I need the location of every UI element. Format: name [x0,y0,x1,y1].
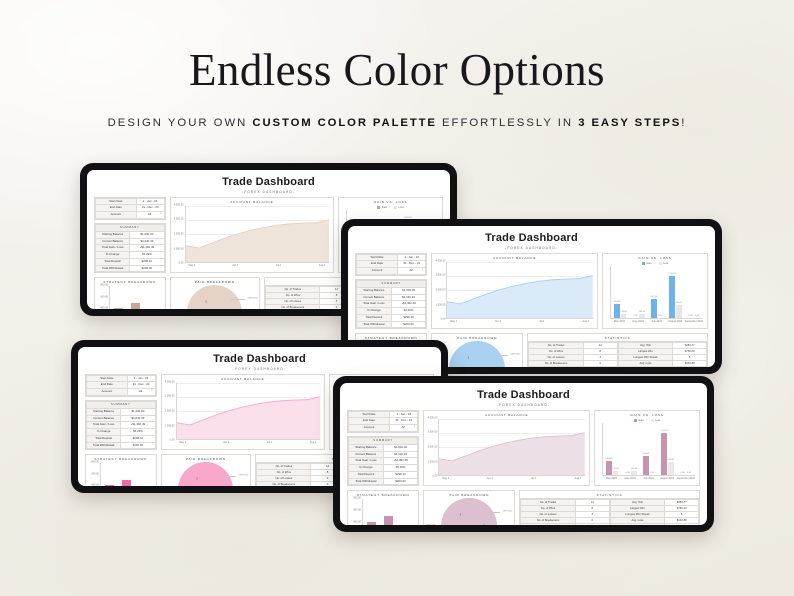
bar-value-label: 430.00 [606,458,612,460]
summary-table: SUMMARYStarting Balance$1,000.00Current … [95,224,165,272]
pie-callout-0: GBP/USD [248,297,258,300]
table-row: No. of Breakevens0 [257,482,344,486]
account-balance-area [446,262,593,320]
bar-gain: 1,292.00 [661,433,667,475]
summary-value: +$1,492.49 [391,301,426,308]
table-row: Total Gain / Loss+$1,492.49 [357,301,426,308]
bar-loss: 133.00 [621,314,627,318]
account-balance-card: ACCOUNT BALANCE4,000.003,000.002,000.001… [423,410,590,487]
summary-value: $3,040.49 [121,415,155,422]
bar-value-label: 430.00 [614,301,620,303]
table-row: Total Gain / Loss+$1,492.49 [96,245,165,252]
y-tick: 800.00 [91,461,99,464]
account-balance-title: ACCOUNT BALANCE [162,375,325,382]
y-tick: 1,000.00 [165,424,175,427]
table-row: Current Balance$3,040.49 [349,451,418,458]
summary-header: SUMMARY [357,280,426,287]
table-row: % Change66.29% [349,465,418,472]
subtitle-part-2: EFFORTLESSLY IN [437,117,578,129]
summary-value: $298.16 [383,471,418,478]
y-tick: 4,000.00 [174,203,184,206]
x-tick: Aug 1 [319,264,326,267]
summary-label: Starting Balance [87,408,121,415]
parameters-card: Start Date1 - Jan - 24End Date31 - Dec -… [85,374,157,397]
account-balance-x-axis: May 1Jun 1Jul 1Aug 1 [438,476,585,483]
strategy-y-axis: 800.00600.00400.00200.000.00 [89,462,100,486]
summary-header-label: SUMMARY [349,437,418,444]
table-row: Total Gain / Loss+$1,492.49 [87,422,156,429]
bar-strategy-2 [131,303,140,309]
summary-label: Starting Balance [96,231,130,238]
parameter-label: Start Date [87,375,128,382]
summary-label: Total Gain / Loss [96,245,130,252]
y-tick: 3,000.00 [428,431,438,434]
x-tick: Jul 1 [276,264,281,267]
parameter-value[interactable]: All▾ [398,268,426,275]
gain-vs-loss-area: 430.00133.000.00135.00595.000.001,292.00… [610,266,703,320]
parameter-label: Account [349,425,390,432]
y-tick: 0.00 [170,439,175,442]
summary-header: SUMMARY [349,437,418,444]
bar-value-label: 133.00 [612,468,618,470]
bar-group: 430.00133.00 [605,423,619,476]
statistics-left-table: No. of Trades14No. of Wins8No. of Losses… [256,463,344,486]
parameters-and-summary: Start Date1 - Jan - 24End Date31 - Dec -… [85,374,157,451]
bar-value-label: 0.00 [633,315,637,317]
subtitle-part-1: CUSTOM COLOR PALETTE [252,117,436,129]
account-balance-y-axis: 4,000.003,000.002,000.001,000.000.00 [174,205,185,264]
parameters-card: Start Date1 - Jan - 24End Date31 - Dec -… [347,410,419,433]
parameter-value[interactable]: 1 - Jan - 24 [127,375,155,382]
table-row: % Change66.29% [96,252,165,259]
x-tick: August 2024 [668,320,682,323]
summary-value: +$1,492.49 [130,245,164,252]
parameter-value[interactable]: 1 - Jan - 24 [136,198,164,205]
y-tick: 4,000.00 [165,380,175,383]
table-row[interactable]: Start Date1 - Jan - 24 [357,254,426,261]
summary-value: $200.00 [391,321,426,328]
parameters-and-summary: Start Date1 - Jan - 24End Date31 - Dec -… [347,410,419,487]
statistics-title: STATISTICS [528,334,707,342]
parameter-label: End Date [96,205,137,212]
x-tick: May 1 [188,264,195,267]
x-tick: September 2024 [684,320,703,323]
y-tick: 2,000.00 [428,446,438,449]
strategy-breakdown-plot: 800.00600.00400.00200.000.00Strategy 1St… [351,498,415,525]
strategy-breakdown-card: STRATEGY BREAKDOWN800.00600.00400.00200.… [85,454,157,486]
summary-label: Total Withdrawal [349,478,384,485]
bar-value-label: 0.00 [689,315,693,317]
pair-breakdown-plot: 743GBP/USDNAS/USDEUR/USD [424,498,514,525]
dashboard-subtitle: -FOREX DASHBOARD- [85,367,434,371]
table-row: Total Deposit$298.16 [87,435,156,442]
account-balance-x-axis: May 1Jun 1Jul 1Aug 1 [446,319,593,326]
table-row: Total Deposit$298.16 [357,314,426,321]
parameters-table: Start Date1 - Jan - 24End Date31 - Dec -… [348,411,418,432]
y-tick: 2,000.00 [436,289,446,292]
x-tick: Jun 1 [232,264,238,267]
summary-label: Current Balance [349,451,384,458]
table-row: Starting Balance$1,000.00 [96,231,165,238]
stat-label: No. Open [521,524,576,525]
summary-value: $3,040.49 [383,451,418,458]
parameter-value[interactable]: All▾ [390,425,418,432]
stat-label: No. of Breakevens [266,305,320,309]
bar-loss: 400.00 [676,305,682,318]
x-tick: Aug 1 [574,477,581,480]
x-tick: June 2024 [632,320,644,323]
summary-header-label: SUMMARY [96,224,165,231]
summary-label: Starting Balance [357,287,392,294]
statistics-left-table: No. of Trades14No. of Wins8No. of Losses… [520,499,609,525]
chevron-down-icon[interactable]: ▾ [414,426,415,429]
account-balance-y-axis: 4,000.003,000.002,000.001,000.000.00 [165,382,176,441]
bar-value-label: 0.00 [681,472,685,474]
y-tick: 4,000.00 [428,416,438,419]
summary-value: $3,040.49 [391,294,426,301]
summary-label: Total Deposit [87,435,121,442]
dashboard-screen: Trade Dashboard-FOREX DASHBOARD-Start Da… [340,383,707,525]
parameter-value[interactable]: 31 - Dec - 24 [136,205,164,212]
parameter-label: End Date [87,382,128,389]
account-balance-plot: 4,000.003,000.002,000.001,000.000.00May … [435,261,594,327]
dashboard-row-bottom: STRATEGY BREAKDOWN800.00600.00400.00200.… [347,490,700,525]
bar-value-label: 1,292.00 [660,430,668,432]
gain-vs-loss-bars: 430.00133.000.00135.00595.000.001,292.00… [603,423,695,476]
account-balance-area-svg [447,262,593,319]
summary-label: Current Balance [96,238,130,245]
x-tick: June 2024 [624,477,636,480]
pie-slice-value-2: 3 [467,356,468,359]
summary-label: Total Withdrawal [87,442,121,449]
x-tick: Aug 1 [310,441,317,444]
summary-value: 66.29% [383,465,418,472]
table-row: Total Deposit$298.16 [96,258,165,265]
gain-vs-loss-plot: 430.00133.000.00135.00595.000.001,292.00… [606,265,704,327]
strategy-area [362,499,414,525]
dashboard-row-top: Start Date1 - Jan - 24End Date31 - Dec -… [355,253,708,330]
table-row: Total Withdrawal$200.00 [357,321,426,328]
dashboard-subtitle: -FOREX DASHBOARD- [94,190,443,194]
summary-label: Total Gain / Loss [357,301,392,308]
account-balance-x-axis: May 1Jun 1Jul 1Aug 1 [176,440,321,447]
subtitle-part-4: ! [681,117,686,129]
strategy-area [109,286,161,309]
summary-value: $200.00 [121,442,155,449]
table-row[interactable]: AccountAll▾ [357,268,426,275]
account-balance-card: ACCOUNT BALANCE4,000.003,000.002,000.001… [161,374,326,451]
bar-strategy-2 [384,516,393,525]
parameter-label: Start Date [349,411,390,418]
account-balance-y-axis: 4,000.003,000.002,000.001,000.000.00 [427,418,438,477]
y-tick: 600.00 [353,509,361,512]
x-tick: May 1 [179,441,186,444]
summary-header: SUMMARY [96,224,165,231]
summary-label: % Change [349,465,384,472]
stat-label: Largest Loss [610,524,665,525]
pair-breakdown-title: PAIR BREAKDOWN [424,491,514,498]
bar-gain: 595.00 [651,299,657,318]
y-tick: 2,000.00 [165,410,175,413]
bar-group: 1,292.00400.00 [661,423,675,476]
account-balance-x-axis: May 1Jun 1Jul 1Aug 1 [185,263,330,270]
subtitle-part-0: DESIGN YOUR OWN [108,117,253,129]
bar-value-label: 135.00 [639,311,645,313]
pair-breakdown-pie: 743 [178,462,233,486]
strategy-breakdown-plot: 800.00600.00400.00200.000.00Strategy 1St… [89,462,153,486]
strategy-breakdown-card: STRATEGY BREAKDOWN800.00600.00400.00200.… [94,277,166,309]
account-balance-area [438,419,585,477]
gain-vs-loss-x-axis: May 2024June 2024July 2024August 2024Sep… [602,476,695,483]
summary-label: Total Deposit [349,471,384,478]
table-row: % Change66.29% [87,429,156,436]
summary-label: Total Gain / Loss [349,458,384,465]
bar-loss: 400.00 [668,462,674,475]
parameter-value[interactable]: All▾ [136,212,164,219]
chevron-down-icon[interactable]: ▾ [160,213,161,216]
parameter-value[interactable]: All▾ [127,389,155,396]
table-row[interactable]: Start Date1 - Jan - 24 [96,198,165,205]
statistics-card: STATISTICSNo. of Trades14No. of Wins8No.… [519,490,700,525]
strategy-breakdown-plot: 800.00600.00400.00200.000.00Strategy 1St… [98,285,162,309]
gain-vs-loss-plot: 430.00133.000.00135.00595.000.001,292.00… [598,422,696,484]
stat-value: $275.00 [665,524,699,525]
x-tick: Jul 1 [531,477,536,480]
pair-breakdown-card: PAIR BREAKDOWN743GBP/USDNAS/USDEUR/USD [170,277,261,309]
account-balance-y-axis: 4,000.003,000.002,000.001,000.000.00 [435,261,446,320]
chevron-down-icon[interactable]: ▾ [422,269,423,272]
account-balance-area [176,383,321,441]
bar-gain: 430.00 [606,461,612,475]
parameter-value[interactable]: 31 - Dec - 24 [127,382,155,389]
summary-header-label: SUMMARY [357,280,426,287]
bar-gain: 430.00 [614,304,620,318]
dashboard: Trade Dashboard-FOREX DASHBOARD-Start Da… [347,388,700,519]
parameters-card: Start Date1 - Jan - 24End Date31 - Dec -… [355,253,427,276]
bar-gain: 1,292.00 [669,276,675,318]
parameter-value[interactable]: 31 - Dec - 24 [398,261,426,268]
y-tick: 2,000.00 [174,233,184,236]
dashboard-title: Trade Dashboard [85,353,434,365]
table-row[interactable]: AccountAll▾ [349,425,418,432]
statistics-left-table: No. of Trades14No. of Wins8No. of Losses… [528,342,617,367]
statistics-right-table: Avg. Win$284.77Largest Win$750.00Longest… [618,342,707,367]
table-row[interactable]: Start Date1 - Jan - 24 [349,411,418,418]
strategy-breakdown-card: STRATEGY BREAKDOWN800.00600.00400.00200.… [347,490,419,525]
table-row[interactable]: End Date31 - Dec - 24 [357,261,426,268]
table-row: No. Open0 [521,524,609,525]
summary-value: $1,000.00 [121,408,155,415]
bar-group: 0.00135.00 [624,423,638,476]
table-row[interactable]: AccountAll▾ [96,212,165,219]
y-tick: 400.00 [100,307,108,309]
summary-label: % Change [87,429,121,436]
table-row: Starting Balance$1,000.00 [87,408,156,415]
summary-value: +$1,492.49 [121,422,155,429]
x-tick: May 1 [442,477,449,480]
summary-table: SUMMARYStarting Balance$1,000.00Current … [348,437,418,485]
table-row: Current Balance$3,040.49 [87,415,156,422]
summary-value: 66.29% [391,308,426,315]
page-title: Endless Color Options [0,48,794,93]
table-row: Total Deposit$298.16 [349,471,418,478]
stat-value: 0 [575,524,609,525]
gain-vs-loss-card: GAIN VS. LOSSGainLoss430.00133.000.00135… [602,253,708,330]
pair-breakdown-plot: 743GBP/USDNAS/USDEUR/USD [162,462,251,486]
subtitle-part-3: 3 EASY STEPS [578,117,681,129]
table-row[interactable]: Start Date1 - Jan - 24 [87,375,156,382]
summary-table: SUMMARYStarting Balance$1,000.00Current … [86,401,156,449]
bar-group: 1,292.00400.00 [669,266,683,319]
summary-label: Total Withdrawal [96,265,130,272]
x-tick: Jul 1 [539,320,544,323]
x-tick: July 2024 [651,320,662,323]
pair-breakdown-card: PAIR BREAKDOWN743GBP/USDNAS/USDEUR/USD [423,490,515,525]
y-tick: 600.00 [100,295,108,298]
parameter-label: Start Date [96,198,137,205]
pie-callout-0: GBP/USD [510,353,520,356]
pie-callout-0: GBP/USD [239,474,249,477]
account-balance-title: ACCOUNT BALANCE [432,254,597,261]
summary-label: Current Balance [357,294,392,301]
table-row[interactable]: End Date31 - Dec - 24 [87,382,156,389]
dashboard-subtitle: -FOREX DASHBOARD- [355,246,708,250]
x-tick: Aug 1 [582,320,589,323]
summary-table: SUMMARYStarting Balance$1,000.00Current … [356,280,426,328]
statistics-body: No. of Trades14No. of Wins8No. of Losses… [520,499,699,525]
bar-value-label: 0.00 [625,472,629,474]
parameter-label: Account [87,389,128,396]
strategy-bars [363,499,414,525]
summary-label: Current Balance [87,415,121,422]
strategy-y-axis: 800.00600.00400.00200.000.00 [98,285,109,309]
parameter-label: End Date [349,418,390,425]
summary-card: SUMMARYStarting Balance$1,000.00Current … [347,436,419,486]
pie-slice-value-2: 3 [205,300,206,303]
x-tick: May 2024 [614,320,625,323]
bar-strategy-1 [105,485,114,486]
parameters-and-summary: Start Date1 - Jan - 24End Date31 - Dec -… [94,197,166,274]
summary-value: $3,040.49 [130,238,164,245]
bar-value-label: 0.00 [687,472,691,474]
bar-gain: 595.00 [643,456,649,475]
bar-value-label: 1,292.00 [668,273,676,275]
y-tick: 800.00 [353,497,361,500]
y-tick: 0.00 [440,318,445,321]
parameter-value[interactable]: 31 - Dec - 24 [390,418,418,425]
table-row: Current Balance$3,040.49 [96,238,165,245]
table-row: Total Withdrawal$200.00 [96,265,165,272]
y-tick: 3,000.00 [174,218,184,221]
bar-strategy-1 [114,308,123,309]
summary-value: $298.16 [130,258,164,265]
parameter-value[interactable]: 1 - Jan - 24 [390,411,418,418]
bar-group: 595.000.00 [642,423,656,476]
chevron-down-icon[interactable]: ▾ [151,390,152,393]
parameters-table: Start Date1 - Jan - 24End Date31 - Dec -… [95,198,165,219]
y-tick: 400.00 [91,484,99,486]
bar-group: 0.00135.00 [632,266,646,319]
summary-value: 66.29% [121,429,155,436]
pie-slice-value-2: 3 [459,513,460,516]
summary-value: 66.29% [130,252,164,259]
y-tick: 600.00 [91,472,99,475]
page-subtitle: DESIGN YOUR OWN CUSTOM COLOR PALETTE EFF… [0,117,794,129]
table-row: Current Balance$3,040.49 [357,294,426,301]
account-balance-plot: 4,000.003,000.002,000.001,000.000.00May … [427,418,586,484]
dashboard-subtitle: -FOREX DASHBOARD- [347,403,700,407]
parameters-table: Start Date1 - Jan - 24End Date31 - Dec -… [356,254,426,275]
statistics-card: STATISTICSNo. of Trades14No. of Wins8No.… [527,333,708,367]
y-tick: 800.00 [100,284,108,287]
bar-value-label: 0.00 [658,315,662,317]
parameters-and-summary: Start Date1 - Jan - 24End Date31 - Dec -… [355,253,427,330]
dashboard-title: Trade Dashboard [347,389,700,401]
x-tick: Jul 1 [267,441,272,444]
stat-label: No. of Breakevens [257,482,311,486]
parameter-value[interactable]: 1 - Jan - 24 [398,254,426,261]
dashboard-title: Trade Dashboard [355,232,708,244]
pair-breakdown-plot: 743GBP/USDNAS/USDEUR/USD [171,285,260,309]
bar-group: 595.000.00 [650,266,664,319]
summary-label: Total Deposit [357,314,392,321]
pair-breakdown-title: PAIR BREAKDOWN [432,334,522,341]
y-tick: 1,000.00 [174,247,184,250]
summary-value: $200.00 [383,478,418,485]
bar-value-label: 0.00 [650,472,654,474]
account-balance-card: ACCOUNT BALANCE4,000.003,000.002,000.001… [170,197,335,274]
x-tick: Jun 1 [487,477,493,480]
strategy-bars [110,286,161,309]
summary-label: Total Withdrawal [357,321,392,328]
pie-slice-value-2: 3 [196,477,197,480]
bar-value-label: 400.00 [675,302,681,304]
summary-value: +$1,492.49 [383,458,418,465]
y-tick: 1,000.00 [436,303,446,306]
summary-label: Total Deposit [96,258,130,265]
table-row: Starting Balance$1,000.00 [357,287,426,294]
table-row[interactable]: End Date31 - Dec - 24 [96,205,165,212]
pair-breakdown-card: PAIR BREAKDOWN743GBP/USDNAS/USDEUR/USD [161,454,252,486]
summary-value: $1,000.00 [383,444,418,451]
dashboard-row-top: Start Date1 - Jan - 24End Date31 - Dec -… [347,410,700,487]
parameter-label: Account [96,212,137,219]
statistics-right-table: Avg. Win$284.77Largest Win$750.00Longest… [610,499,699,525]
table-row: Total Gain / Loss+$1,492.49 [349,458,418,465]
x-tick: Jun 1 [223,441,229,444]
summary-label: % Change [357,308,392,315]
table-row[interactable]: End Date31 - Dec - 24 [349,418,418,425]
account-balance-plot: 4,000.003,000.002,000.001,000.000.00May … [165,382,322,448]
bar-value-label: 133.00 [620,311,626,313]
x-tick: May 2024 [606,477,617,480]
bar-value-label: 595.00 [651,296,657,298]
account-balance-area-svg [439,419,585,476]
table-row[interactable]: AccountAll▾ [87,389,156,396]
x-tick: Jun 1 [495,320,501,323]
dashboard-title: Trade Dashboard [94,176,443,188]
pair-breakdown-pie: 743 [187,285,242,309]
pie-callout-0: GBP/USD [502,510,512,513]
header: Endless Color Options DESIGN YOUR OWN CU… [0,0,794,129]
gain-vs-loss-bars: 430.00133.000.00135.00595.000.001,292.00… [611,266,703,319]
y-tick: 4,000.00 [436,259,446,262]
x-tick: July 2024 [643,477,654,480]
x-tick: May 1 [450,320,457,323]
y-tick: 0.00 [179,262,184,265]
bar-group: 0.000.00 [687,266,701,319]
pair-breakdown-title: PAIR BREAKDOWN [171,278,260,285]
